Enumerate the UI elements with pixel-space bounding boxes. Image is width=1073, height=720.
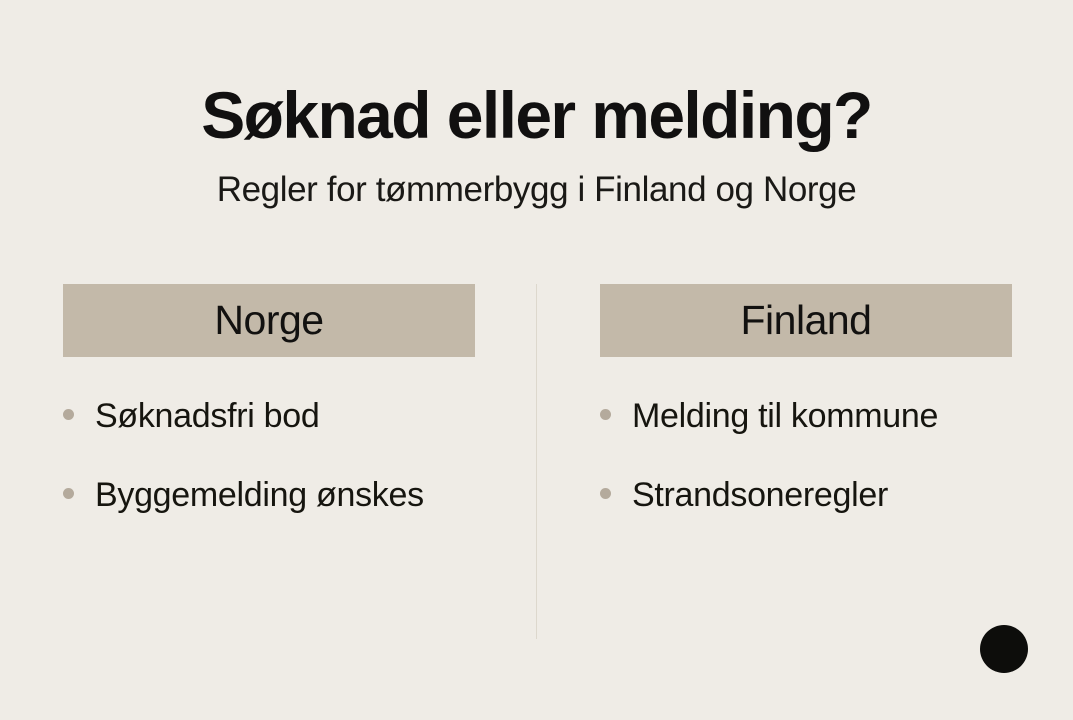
list-item-label: Byggemelding ønskes (95, 476, 424, 515)
list-item-label: Søknadsfri bod (95, 397, 319, 436)
bullet-dot-icon (63, 409, 74, 420)
bullet-list-norge: Søknadsfri bod Byggemelding ønskes (63, 357, 475, 515)
bullet-dot-icon (600, 488, 611, 499)
list-item-label: Strandsoneregler (632, 476, 888, 515)
list-item: Melding til kommune (600, 397, 1012, 436)
list-item: Byggemelding ønskes (63, 476, 475, 515)
column-header-norge: Norge (63, 284, 475, 357)
column-divider (536, 284, 537, 639)
comparison-columns: Norge Søknadsfri bod Byggemelding ønskes… (0, 284, 1073, 644)
list-item-label: Melding til kommune (632, 397, 938, 436)
column-heading-label: Finland (741, 300, 872, 341)
bullet-dot-icon (600, 409, 611, 420)
column-header-finland: Finland (600, 284, 1012, 357)
bullet-list-finland: Melding til kommune Strandsoneregler (600, 357, 1012, 515)
column-norge: Norge Søknadsfri bod Byggemelding ønskes (63, 284, 475, 555)
column-finland: Finland Melding til kommune Strandsonere… (600, 284, 1012, 555)
list-item: Søknadsfri bod (63, 397, 475, 436)
column-heading-label: Norge (214, 300, 323, 341)
bullet-dot-icon (63, 488, 74, 499)
page-title: Søknad eller melding? (0, 82, 1073, 149)
page-subtitle: Regler for tømmerbygg i Finland og Norge (0, 149, 1073, 210)
slide-root: Søknad eller melding? Regler for tømmerb… (0, 0, 1073, 720)
accent-circle-mark (980, 625, 1028, 673)
list-item: Strandsoneregler (600, 476, 1012, 515)
slide-header: Søknad eller melding? Regler for tømmerb… (0, 0, 1073, 210)
